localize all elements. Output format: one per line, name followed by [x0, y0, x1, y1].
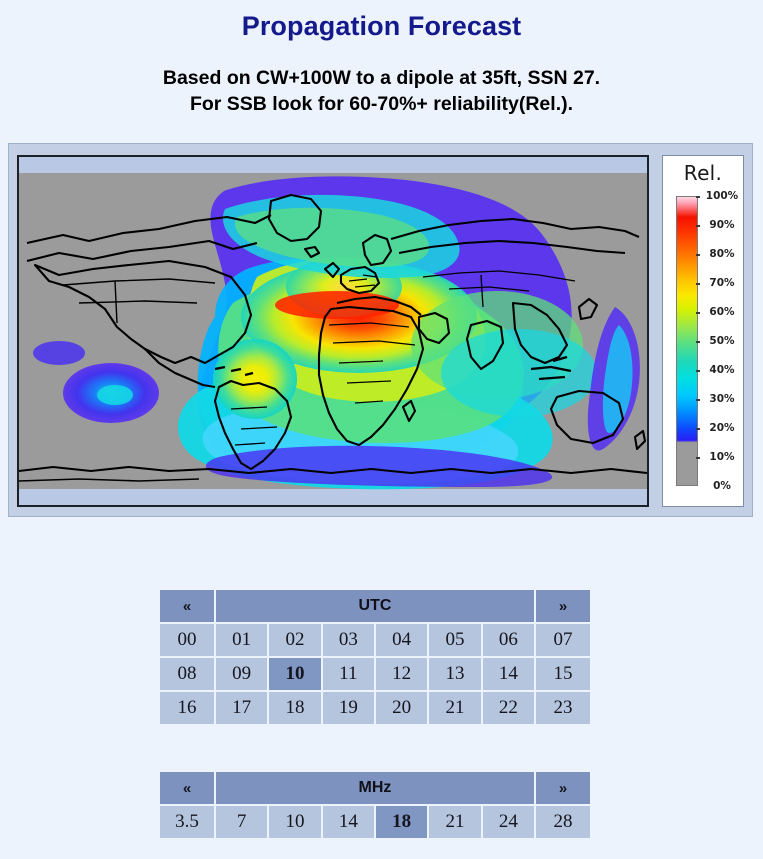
mhz-cell-21[interactable]: 21: [429, 806, 480, 838]
mhz-header-row: « MHz »: [160, 772, 590, 804]
utc-cell-22[interactable]: 22: [483, 692, 534, 724]
mhz-cell-3.5[interactable]: 3.5: [160, 806, 214, 838]
legend-tick-40: 40%: [699, 364, 745, 376]
utc-cell-23[interactable]: 23: [536, 692, 590, 724]
utc-cell-08[interactable]: 08: [160, 658, 214, 690]
map-panel: Rel. 100% 90% 80% 70% 60% 50% 40% 30% 20…: [8, 143, 753, 517]
legend-tick-10: 10%: [699, 451, 745, 463]
utc-cell-09[interactable]: 09: [216, 658, 267, 690]
subtitle-line-1: Based on CW+100W to a dipole at 35ft, SS…: [0, 66, 763, 92]
mhz-cell-28[interactable]: 28: [536, 806, 590, 838]
utc-cell-15[interactable]: 15: [536, 658, 590, 690]
table-row: 08 09 10 11 12 13 14 15: [160, 658, 590, 690]
page-title: Propagation Forecast: [0, 0, 763, 40]
utc-selector[interactable]: « UTC » 00 01 02 03 04 05 06 07 08 09 10…: [158, 588, 592, 726]
mhz-prev-button[interactable]: «: [160, 772, 214, 804]
subtitle-line-2: For SSB look for 60-70%+ reliability(Rel…: [0, 92, 763, 118]
legend-tick-30: 30%: [699, 393, 745, 405]
utc-next-button[interactable]: »: [536, 590, 590, 622]
utc-cell-16[interactable]: 16: [160, 692, 214, 724]
band-20pct-pacific-nw: [33, 341, 85, 365]
legend-title: Rel.: [663, 161, 743, 185]
mhz-cell-24[interactable]: 24: [483, 806, 534, 838]
utc-header-label: UTC: [216, 590, 534, 622]
utc-cell-17[interactable]: 17: [216, 692, 267, 724]
legend-body: 100% 90% 80% 70% 60% 50% 40% 30% 20% 10%…: [663, 190, 743, 502]
legend-tick-20: 20%: [699, 422, 745, 434]
utc-cell-03[interactable]: 03: [323, 624, 374, 656]
utc-cell-13[interactable]: 13: [429, 658, 480, 690]
utc-cell-07[interactable]: 07: [536, 624, 590, 656]
utc-cell-04[interactable]: 04: [376, 624, 427, 656]
utc-cell-21[interactable]: 21: [429, 692, 480, 724]
mhz-cell-10[interactable]: 10: [269, 806, 320, 838]
utc-cell-00[interactable]: 00: [160, 624, 214, 656]
utc-cell-06[interactable]: 06: [483, 624, 534, 656]
utc-cell-05[interactable]: 05: [429, 624, 480, 656]
table-row: 16 17 18 19 20 21 22 23: [160, 692, 590, 724]
legend-color-bar: [676, 196, 698, 486]
legend-tick-60: 60%: [699, 306, 745, 318]
legend-tick-90: 90%: [699, 219, 745, 231]
mhz-header-label: MHz: [216, 772, 534, 804]
utc-prev-button[interactable]: «: [160, 590, 214, 622]
utc-cell-10-selected[interactable]: 10: [269, 658, 320, 690]
utc-cell-18[interactable]: 18: [269, 692, 320, 724]
legend-tick-70: 70%: [699, 277, 745, 289]
legend-tick-labels: 100% 90% 80% 70% 60% 50% 40% 30% 20% 10%…: [699, 190, 745, 492]
legend-tick-80: 80%: [699, 248, 745, 260]
reliability-legend: Rel. 100% 90% 80% 70% 60% 50% 40% 30% 20…: [662, 155, 744, 507]
utc-cell-20[interactable]: 20: [376, 692, 427, 724]
legend-tick-0: 0%: [699, 480, 745, 492]
band-40pct-pacific: [97, 385, 133, 405]
legend-tick-100: 100%: [699, 190, 745, 202]
utc-cell-11[interactable]: 11: [323, 658, 374, 690]
utc-cell-14[interactable]: 14: [483, 658, 534, 690]
band-100pct-core: [275, 291, 399, 319]
mhz-cell-14[interactable]: 14: [323, 806, 374, 838]
map-canvas: [19, 157, 647, 505]
propagation-map[interactable]: [17, 155, 649, 507]
map-graphic: [19, 157, 647, 505]
table-row: 00 01 02 03 04 05 06 07: [160, 624, 590, 656]
mhz-next-button[interactable]: »: [536, 772, 590, 804]
mhz-cell-18-selected[interactable]: 18: [376, 806, 427, 838]
table-row: 3.5 7 10 14 18 21 24 28: [160, 806, 590, 838]
utc-cell-12[interactable]: 12: [376, 658, 427, 690]
forecast-parameters: Based on CW+100W to a dipole at 35ft, SS…: [0, 66, 763, 117]
utc-header-row: « UTC »: [160, 590, 590, 622]
legend-tick-50: 50%: [699, 335, 745, 347]
utc-cell-02[interactable]: 02: [269, 624, 320, 656]
mhz-selector[interactable]: « MHz » 3.5 7 10 14 18 21 24 28: [158, 770, 592, 840]
mhz-cell-7[interactable]: 7: [216, 806, 267, 838]
utc-cell-01[interactable]: 01: [216, 624, 267, 656]
utc-cell-19[interactable]: 19: [323, 692, 374, 724]
